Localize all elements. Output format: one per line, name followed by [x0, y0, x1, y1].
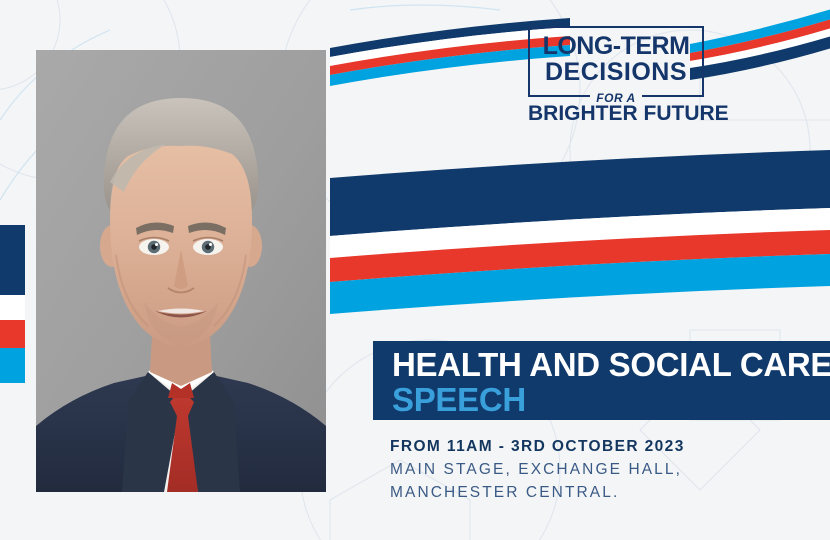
logo-line-decisions: DECISIONS — [538, 59, 694, 86]
event-venue-line-2: MANCHESTER CENTRAL. — [390, 481, 685, 504]
campaign-logo: LONG-TERM DECISIONS FOR A BRIGHTER FUTUR… — [528, 26, 704, 125]
logo-connector-for-a: FOR A — [590, 92, 641, 104]
logo-box: LONG-TERM DECISIONS FOR A — [528, 26, 704, 97]
event-venue-line-1: MAIN STAGE, EXCHANGE HALL, — [390, 458, 685, 481]
stripe-red — [0, 320, 25, 348]
ribbon-top-right — [690, 6, 830, 86]
stripe-white — [0, 295, 25, 320]
ribbon-main-band — [330, 150, 830, 320]
speaker-portrait — [36, 50, 326, 492]
banner-subtitle: SPEECH — [392, 382, 526, 418]
logo-line-brighter-future: BRIGHTER FUTURE — [528, 103, 704, 125]
poster-canvas: LONG-TERM DECISIONS FOR A BRIGHTER FUTUR… — [0, 0, 830, 540]
stripe-navy — [0, 225, 25, 295]
portrait-illustration — [36, 50, 326, 492]
title-banner: HEALTH AND SOCIAL CARE SPEECH — [373, 341, 830, 420]
banner-title: HEALTH AND SOCIAL CARE — [392, 347, 830, 383]
logo-connector-wrap: FOR A — [530, 92, 702, 104]
event-date: FROM 11AM - 3RD OCTOBER 2023 — [390, 436, 685, 458]
left-edge-stripe-block — [0, 225, 25, 383]
event-details: FROM 11AM - 3RD OCTOBER 2023 MAIN STAGE,… — [390, 436, 685, 504]
logo-line-long-term: LONG-TERM — [538, 34, 694, 59]
stripe-light-blue — [0, 348, 25, 383]
